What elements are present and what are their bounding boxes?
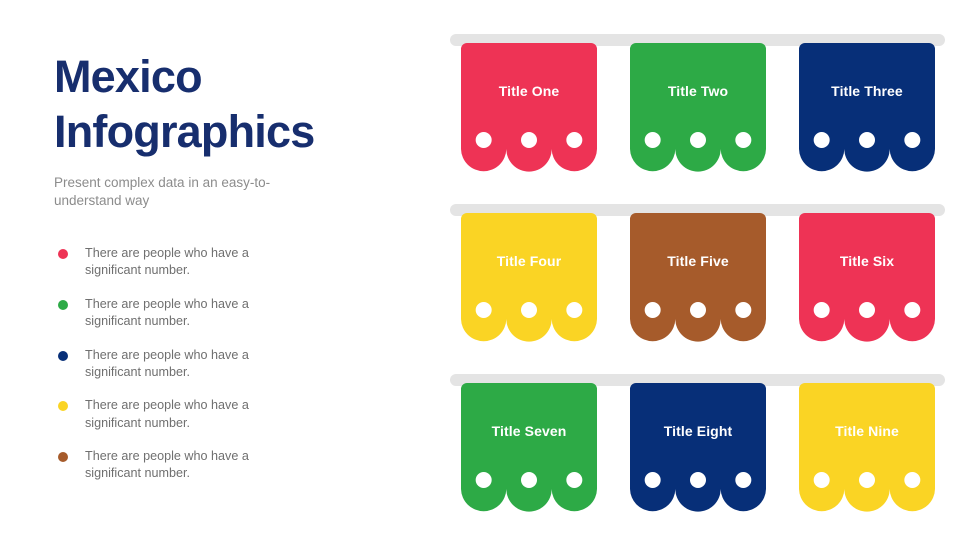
list-item: There are people who have a significant …	[58, 296, 378, 331]
legend-list: There are people who have a significant …	[58, 245, 378, 499]
list-item: There are people who have a significant …	[58, 448, 378, 483]
legend-item-label: There are people who have a significant …	[85, 397, 305, 432]
legend-item-label: There are people who have a significant …	[85, 448, 305, 483]
list-item: There are people who have a significant …	[58, 347, 378, 382]
papel-picado-shape-icon	[461, 43, 597, 183]
legend-item-label: There are people who have a significant …	[85, 245, 305, 280]
papel-picado-shape-icon	[799, 213, 935, 353]
banner-row: Title Four Title Five	[450, 204, 950, 352]
banner-flag[interactable]: Title Four	[461, 213, 597, 353]
banner-row: Title Seven Title Eight	[450, 374, 950, 522]
banner-flag-group: Title Seven Title Eight	[461, 383, 945, 523]
papel-picado-banner-area: Title One Title Two	[450, 34, 950, 524]
papel-picado-shape-icon	[461, 213, 597, 353]
papel-picado-shape-icon	[630, 43, 766, 183]
banner-flag[interactable]: Title One	[461, 43, 597, 183]
infographic-slide: Mexico Infographics Present complex data…	[0, 0, 980, 551]
page-subtitle: Present complex data in an easy-to-under…	[54, 174, 326, 210]
banner-flag[interactable]: Title Six	[799, 213, 935, 353]
legend-bullet-icon	[58, 401, 68, 411]
list-item: There are people who have a significant …	[58, 397, 378, 432]
papel-picado-shape-icon	[799, 383, 935, 523]
legend-item-label: There are people who have a significant …	[85, 296, 305, 331]
banner-flag[interactable]: Title Eight	[630, 383, 766, 523]
banner-flag-group: Title Four Title Five	[461, 213, 945, 353]
banner-row: Title One Title Two	[450, 34, 950, 182]
legend-bullet-icon	[58, 249, 68, 259]
papel-picado-shape-icon	[799, 43, 935, 183]
legend-item-label: There are people who have a significant …	[85, 347, 305, 382]
banner-flag-group: Title One Title Two	[461, 43, 945, 183]
papel-picado-shape-icon	[630, 383, 766, 523]
papel-picado-shape-icon	[461, 383, 597, 523]
banner-flag[interactable]: Title Three	[799, 43, 935, 183]
legend-bullet-icon	[58, 351, 68, 361]
banner-flag[interactable]: Title Two	[630, 43, 766, 183]
banner-flag[interactable]: Title Nine	[799, 383, 935, 523]
legend-bullet-icon	[58, 300, 68, 310]
list-item: There are people who have a significant …	[58, 245, 378, 280]
page-title: Mexico Infographics	[54, 50, 384, 160]
papel-picado-shape-icon	[630, 213, 766, 353]
legend-bullet-icon	[58, 452, 68, 462]
left-text-panel: Mexico Infographics Present complex data…	[54, 50, 384, 209]
banner-flag[interactable]: Title Seven	[461, 383, 597, 523]
banner-flag[interactable]: Title Five	[630, 213, 766, 353]
